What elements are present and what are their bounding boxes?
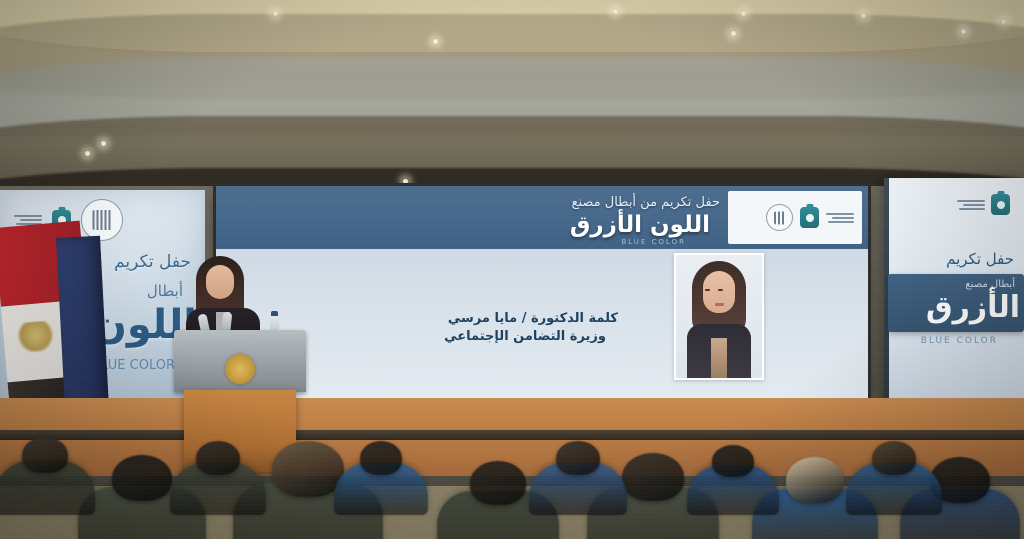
portrait-body [687, 324, 751, 378]
ministry-logo-icon [991, 194, 1010, 215]
portrait-face [703, 271, 735, 313]
screen-speech-line2: وزيرة التضامن الإجتماعي [444, 329, 606, 344]
right-banner-text-1: حفل تكريم [946, 250, 1014, 268]
podium-seal-icon [225, 354, 255, 384]
screen-header-band: حفل تكريم من أبطال مصنع اللون الأزرق BLU… [216, 186, 868, 249]
state-seal-icon [81, 199, 123, 241]
audience-person-head [786, 457, 844, 503]
screen-title-latin: BLUE COLOR [621, 238, 686, 246]
ceiling-spotlight [612, 8, 619, 15]
state-seal-icon [766, 204, 793, 231]
audience-person-head [556, 441, 600, 475]
audience-person-head [112, 455, 172, 501]
screen-logo-strip [728, 191, 862, 244]
screen-title-line2: اللون الأزرق [570, 212, 710, 238]
portrait-mouth [715, 303, 724, 306]
podium-top [174, 330, 306, 392]
speaker-face [206, 265, 234, 299]
ministry-wordmark-icon [957, 200, 985, 210]
right-banner-latin: BLUE COLOR [921, 336, 998, 346]
screen-body: كلمة الدكتورة / مايا مرسي وزيرة التضامن … [216, 249, 868, 398]
right-banner-logo-row [957, 194, 1010, 215]
portrait-eye-right [718, 289, 723, 291]
ceiling-spotlight [84, 150, 91, 157]
left-banner-text-2: أبطال [147, 282, 183, 300]
ceiling-spotlight [960, 28, 967, 35]
projection-screen: حفل تكريم من أبطال مصنع اللون الأزرق BLU… [216, 186, 868, 398]
screen-title-line1: حفل تكريم من أبطال مصنع [572, 195, 720, 210]
right-banner-plate-headline: الأزرق [926, 290, 1020, 325]
audience-seating [0, 412, 1024, 539]
ceiling-spotlight [1000, 18, 1007, 25]
conference-hall-photo: حفل تكريم أبطال اللون BLUE COLOR حفل تكر… [0, 0, 1024, 539]
ministry-logo-icon [800, 207, 819, 228]
right-banner-plate: أبطال مصنع الأزرق [888, 274, 1024, 332]
portrait-eye-left [705, 289, 710, 291]
ceiling-spotlight [730, 30, 737, 37]
audience-person-head [360, 441, 402, 475]
audience-person-head [470, 461, 526, 505]
ministry-wordmark-icon [826, 213, 854, 223]
ceiling-spotlight [100, 140, 107, 147]
portrait-chest [711, 338, 727, 378]
audience-person-head [22, 437, 68, 473]
screen-speech-line1: كلمة الدكتورة / مايا مرسي [448, 311, 618, 326]
right-banner-plate-small: أبطال مصنع [965, 279, 1015, 290]
flag-eagle-emblem-icon [16, 321, 54, 354]
ceiling-spotlight [272, 10, 279, 17]
audience-person-head [272, 441, 344, 497]
left-banner-text-1: حفل تكريم [114, 252, 191, 272]
ceiling-spotlight [740, 10, 747, 17]
right-rollup-banner: حفل تكريم أبطال مصنع الأزرق BLUE COLOR [884, 178, 1024, 410]
audience-person-head [622, 453, 684, 501]
ceiling-spotlight [402, 178, 409, 185]
audience-person-head [712, 445, 754, 477]
audience-person-head [872, 441, 916, 475]
ceiling-spotlight [860, 12, 867, 19]
auditorium-ceiling [0, 0, 1024, 196]
speaker-portrait-photo [674, 253, 764, 380]
ceiling-spotlight [432, 38, 439, 45]
audience-person-head [196, 441, 240, 475]
